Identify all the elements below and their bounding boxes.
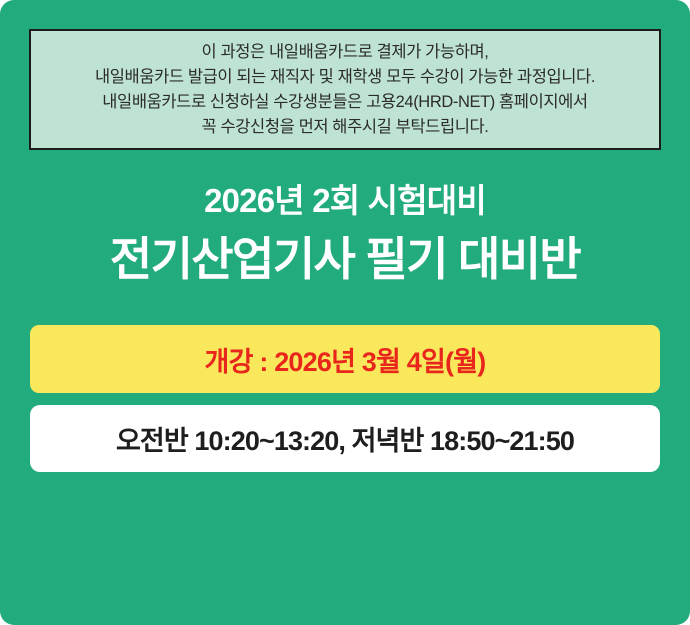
course-promo-banner: 이 과정은 내일배움카드로 결제가 가능하며, 내일배움카드 발급이 되는 재직… bbox=[0, 0, 690, 625]
class-schedule-text: 오전반 10:20~13:20, 저녁반 18:50~21:50 bbox=[116, 419, 574, 458]
start-date-box: 개강 : 2026년 3월 4일(월) bbox=[30, 325, 660, 393]
class-schedule-box: 오전반 10:20~13:20, 저녁반 18:50~21:50 bbox=[30, 405, 660, 472]
notice-line-1: 이 과정은 내일배움카드로 결제가 가능하며, bbox=[202, 40, 489, 65]
notice-box: 이 과정은 내일배움카드로 결제가 가능하며, 내일배움카드 발급이 되는 재직… bbox=[29, 29, 661, 150]
start-date-text: 개강 : 2026년 3월 4일(월) bbox=[205, 340, 486, 379]
course-subtitle: 2026년 2회 시험대비 bbox=[0, 180, 690, 222]
course-title: 전기산업기사 필기 대비반 bbox=[0, 228, 690, 290]
notice-line-2: 내일배움카드 발급이 되는 재직자 및 재학생 모두 수강이 가능한 과정입니다… bbox=[95, 65, 595, 90]
notice-line-4: 꼭 수강신청을 먼저 해주시길 부탁드립니다. bbox=[202, 115, 489, 140]
notice-line-3: 내일배움카드로 신청하실 수강생분들은 고용24(HRD-NET) 홈페이지에서 bbox=[102, 90, 587, 115]
